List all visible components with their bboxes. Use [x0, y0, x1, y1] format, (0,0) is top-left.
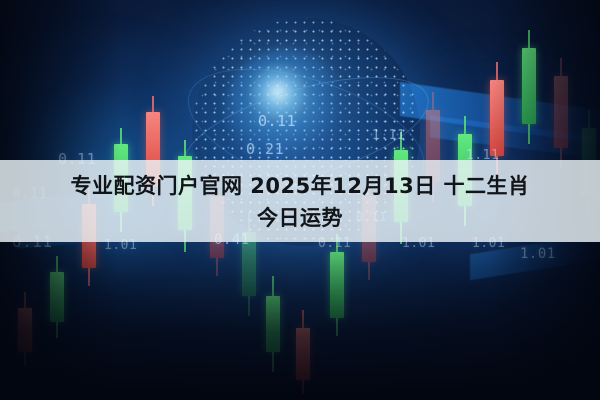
- floating-number: 0.21: [246, 140, 284, 158]
- floating-number: 1.11: [372, 128, 405, 143]
- image-canvas: 0.111.110.210.111.110.110.410.111.010.11…: [0, 0, 600, 400]
- floating-number: 0.11: [258, 112, 296, 130]
- headline-text: 专业配资门户官网 2025年12月13日 十二生肖 今日运势: [0, 160, 600, 242]
- headline-line-2: 今日运势: [257, 202, 343, 232]
- headline-line-1: 专业配资门户官网 2025年12月13日 十二生肖: [70, 170, 529, 200]
